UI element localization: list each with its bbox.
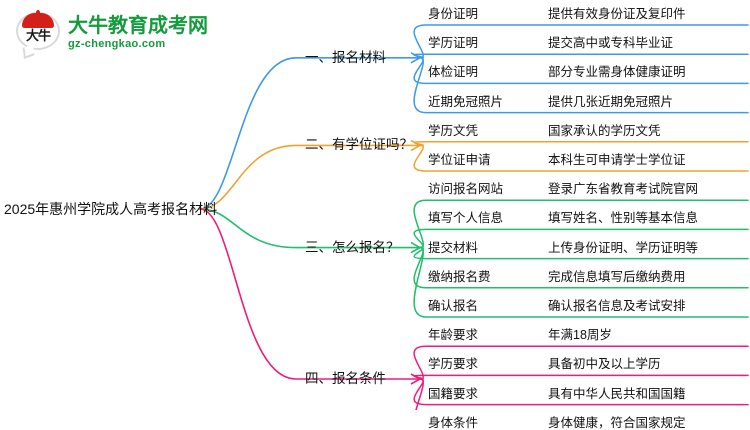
mindmap-leaf-label[interactable]: 国籍要求 [428, 388, 478, 401]
mindmap-branch-label[interactable]: 一、报名材料 [305, 51, 386, 65]
mindmap-leaf-description[interactable]: 完成信息填写后缴纳费用 [548, 271, 686, 284]
mindmap-branch-label[interactable]: 四、报名条件 [305, 372, 386, 386]
mindmap-leaf-description[interactable]: 国家承认的学历文凭 [548, 125, 661, 138]
mindmap-leaf-description[interactable]: 本科生可申请学士学位证 [548, 154, 686, 167]
mindmap-leaf-label[interactable]: 访问报名网站 [428, 183, 503, 196]
mindmap-leaf-description[interactable]: 身体健康，符合国家规定 [548, 417, 686, 430]
mindmap-leaf-label[interactable]: 学位证申请 [428, 154, 491, 167]
connector-path [200, 209, 420, 379]
connector-path [414, 142, 748, 146]
mindmap-leaf-label[interactable]: 学历证明 [428, 37, 478, 50]
mindmap-leaf-description[interactable]: 部分专业需身体健康证明 [548, 66, 686, 79]
mindmap-leaf-label[interactable]: 身体条件 [428, 417, 478, 430]
mindmap-branch-label[interactable]: 三、怎么报名？ [305, 241, 400, 255]
mindmap-leaf-label[interactable]: 提交材料 [428, 242, 478, 255]
mindmap-leaf-label[interactable]: 年龄要求 [428, 329, 478, 342]
mindmap-leaf-description[interactable]: 提供有效身份证及复印件 [548, 8, 686, 21]
mindmap-leaf-description[interactable]: 登录广东省教育考试院官网 [548, 183, 698, 196]
mindmap-leaf-label[interactable]: 缴纳报名费 [428, 271, 491, 284]
mindmap-leaf-label[interactable]: 填写个人信息 [428, 212, 503, 225]
mindmap-leaf-description[interactable]: 年满18周岁 [548, 329, 612, 342]
mindmap-leaf-description[interactable]: 提供几张近期免冠照片 [548, 96, 673, 109]
mindmap-leaf-label[interactable]: 确认报名 [428, 300, 478, 313]
connector-path [414, 375, 748, 379]
mindmap-leaf-label[interactable]: 体检证明 [428, 66, 478, 79]
mindmap-leaf-description[interactable]: 具有中华人民共和国国籍 [548, 388, 686, 401]
mindmap-leaf-label[interactable]: 学历文凭 [428, 125, 478, 138]
mindmap-leaf-description[interactable]: 填写姓名、性别等基本信息 [548, 212, 698, 225]
mindmap-leaf-description[interactable]: 确认报名信息及考试安排 [548, 300, 686, 313]
mindmap-branch-label[interactable]: 二、有学位证吗？ [305, 138, 413, 152]
mindmap-leaf-label[interactable]: 近期免冠照片 [428, 96, 503, 109]
mindmap-root-label[interactable]: 2025年惠州学院成人高考报名材料 [4, 202, 217, 216]
mindmap-leaf-label[interactable]: 身份证明 [428, 8, 478, 21]
connector-path [414, 54, 748, 58]
mindmap-leaf-label[interactable]: 学历要求 [428, 358, 478, 371]
mindmap-leaf-description[interactable]: 上传身份证明、学历证明等 [548, 242, 698, 255]
mindmap-leaf-description[interactable]: 具备初中及以上学历 [548, 358, 661, 371]
mindmap-leaf-description[interactable]: 提交高中或专科毕业证 [548, 37, 673, 50]
